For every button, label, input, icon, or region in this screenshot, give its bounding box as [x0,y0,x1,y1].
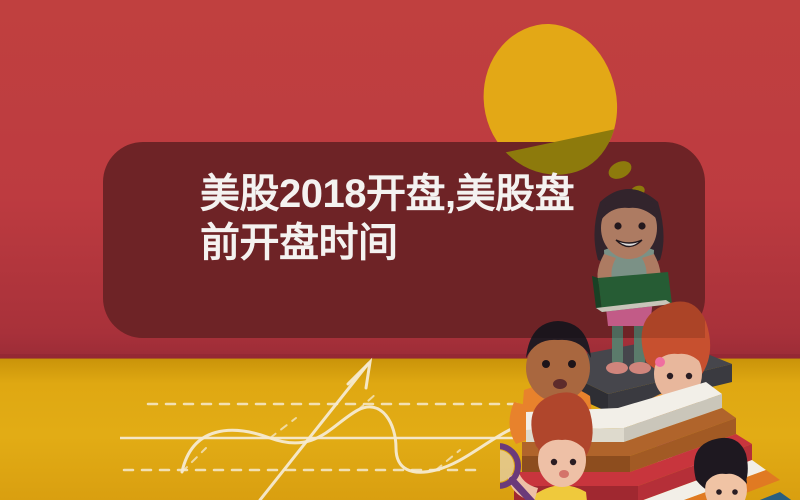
figure-boy-red-shirt [694,438,781,500]
page-title: 美股2018开盘,美股盘前开盘时间 [200,170,600,268]
headline-text: 美股2018开盘,美股盘前开盘时间 [200,172,574,265]
banner-canvas: 美股2018开盘,美股盘前开盘时间 [0,0,800,500]
